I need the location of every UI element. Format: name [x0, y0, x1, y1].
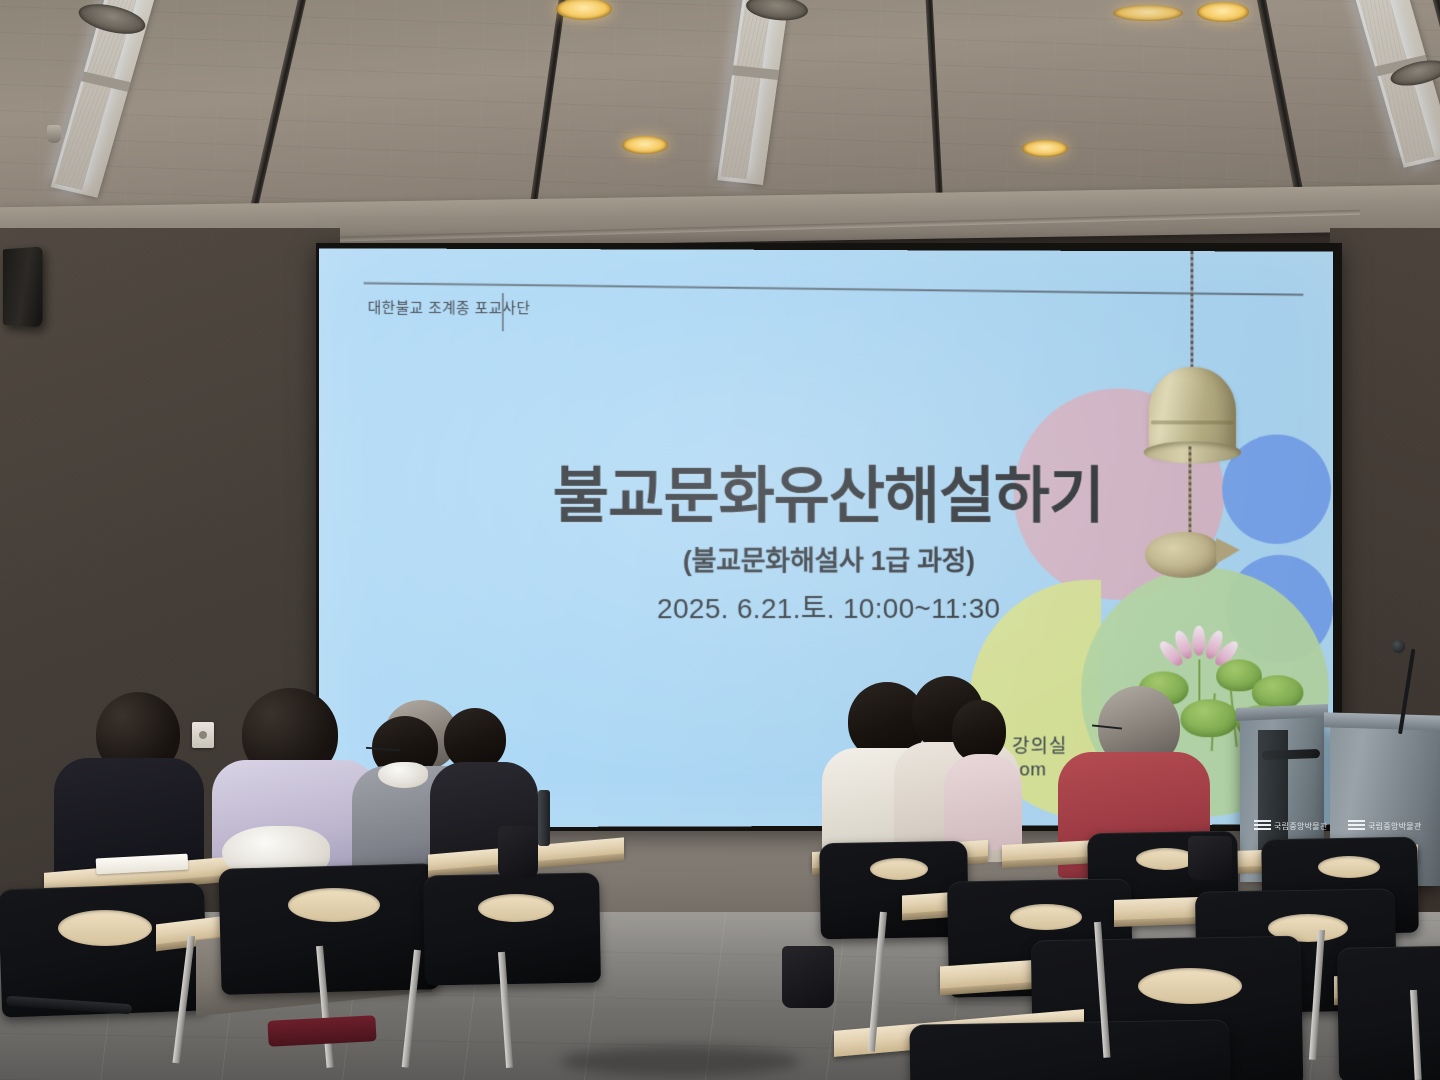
- wind-chime-bell-icon: [1149, 367, 1236, 457]
- smoke-detector-icon: [47, 125, 61, 143]
- museum-logo-bars-icon: [1348, 820, 1365, 830]
- lectern-top: [1236, 704, 1328, 721]
- museum-logo-bars-icon: [1254, 820, 1271, 830]
- backpack: [782, 946, 834, 1008]
- slide-kicker: 대한불교 조계종 포교사단: [368, 297, 531, 319]
- ceiling-downlight: [1022, 140, 1068, 157]
- ceiling-downlight: [1197, 2, 1249, 22]
- lecture-hall-photo: 대한불교 조계종 포교사단: [0, 0, 1440, 1080]
- slide-header-rule: [364, 282, 1304, 296]
- ceiling-texture: [0, 0, 1440, 215]
- wall-outlet-icon: [192, 722, 214, 748]
- wind-chime-chain: [1190, 251, 1193, 371]
- lotus-pad-icon: [1181, 699, 1238, 737]
- slide-date-time: 2025. 6.21.토. 10:00~11:30: [319, 587, 1333, 628]
- slide-header-tick: [502, 293, 504, 331]
- slide-subtitle: (불교문화해설사 1급 과정): [319, 539, 1333, 578]
- ceiling: [0, 0, 1440, 215]
- lectern-logo-text: 국립중앙박물관: [1368, 821, 1422, 832]
- handbag: [498, 826, 538, 878]
- ceiling-downlight: [622, 136, 668, 154]
- lectern-logo-text: 국립중앙박물관: [1274, 821, 1328, 832]
- wall-speaker-icon: [3, 246, 43, 327]
- ceiling-downlight: [1113, 5, 1183, 21]
- lotus-pad-icon: [1252, 675, 1303, 709]
- handbag: [1188, 836, 1232, 880]
- floor-shadow: [560, 1046, 800, 1076]
- water-bottle: [538, 790, 550, 846]
- slide-title: 불교문화유산해설하기: [319, 445, 1333, 535]
- bulkhead-groove: [180, 210, 1360, 246]
- microphone-icon: [1392, 640, 1405, 653]
- lectern-top: [1324, 712, 1440, 730]
